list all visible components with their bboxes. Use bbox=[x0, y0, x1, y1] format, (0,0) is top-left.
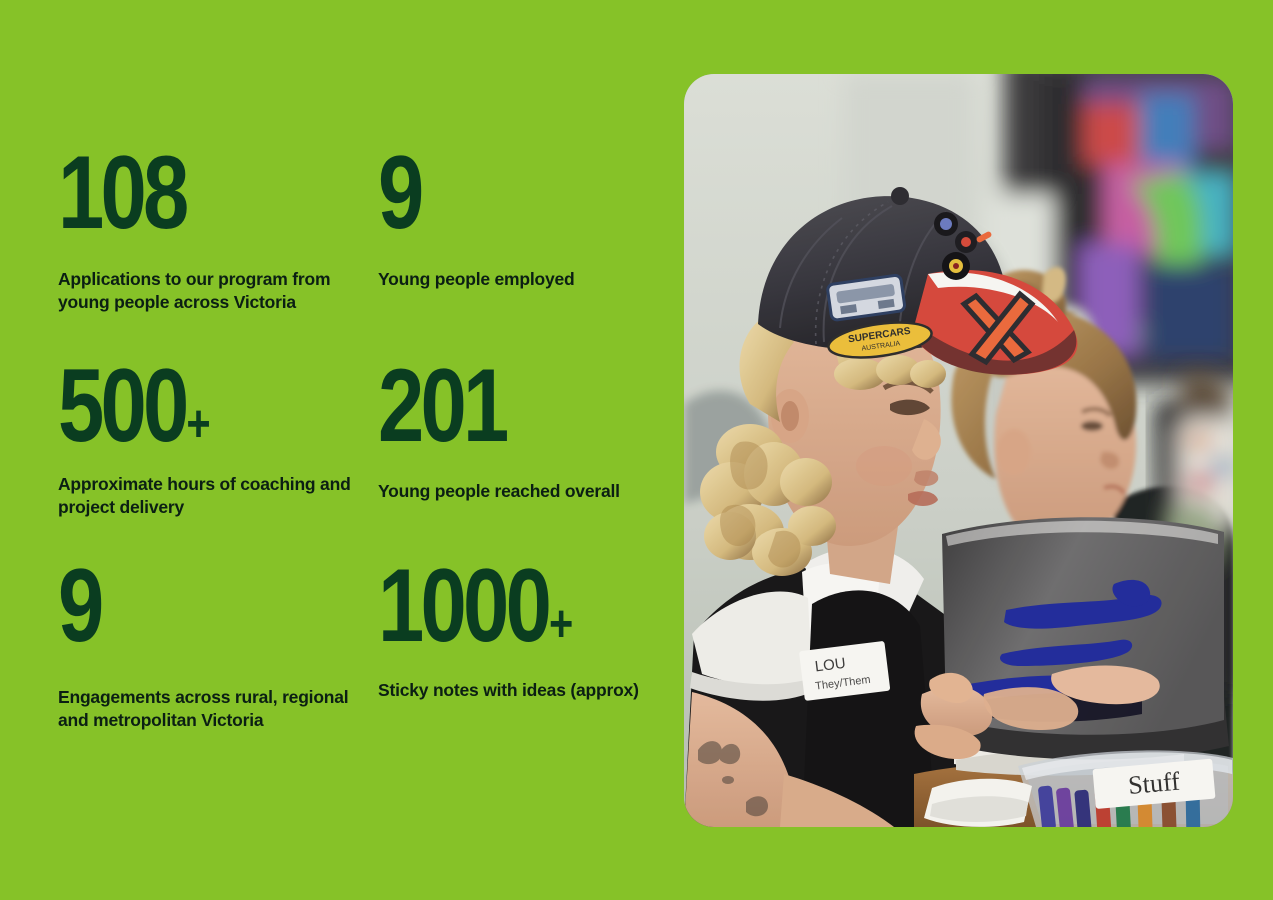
stat-card: 500+ Approximate hours of coaching and p… bbox=[58, 363, 368, 519]
stat-value: 9 bbox=[378, 150, 602, 242]
stat-suffix: + bbox=[186, 395, 209, 453]
stat-card: 108 Applications to our program from you… bbox=[58, 150, 368, 314]
stat-card: 9 Engagements across rural, regional and… bbox=[58, 563, 368, 732]
stat-value: 201 bbox=[378, 363, 602, 455]
stat-value: 9 bbox=[58, 563, 306, 655]
stat-value: 500+ bbox=[58, 363, 306, 455]
stat-card: 9 Young people employed bbox=[378, 150, 658, 291]
stat-label: Applications to our program from young p… bbox=[58, 268, 358, 314]
stat-label: Approximate hours of coaching and projec… bbox=[58, 473, 358, 519]
stat-label: Sticky notes with ideas (approx) bbox=[378, 679, 658, 702]
statistics-grid: 108 Applications to our program from you… bbox=[58, 150, 658, 750]
impact-stats-page: 108 Applications to our program from you… bbox=[0, 0, 1273, 900]
stat-label: Young people employed bbox=[378, 268, 658, 291]
stat-label: Young people reached overall bbox=[378, 480, 658, 503]
stat-suffix: + bbox=[549, 595, 572, 653]
workshop-photo-illustration: LOU They/Them bbox=[684, 74, 1233, 827]
stat-label: Engagements across rural, regional and m… bbox=[58, 686, 358, 732]
stat-card: 1000+ Sticky notes with ideas (approx) bbox=[378, 563, 658, 702]
stat-card: 201 Young people reached overall bbox=[378, 363, 658, 503]
stat-value: 108 bbox=[58, 150, 306, 242]
workshop-photo: LOU They/Them bbox=[684, 74, 1233, 827]
stat-value: 1000+ bbox=[378, 563, 602, 655]
